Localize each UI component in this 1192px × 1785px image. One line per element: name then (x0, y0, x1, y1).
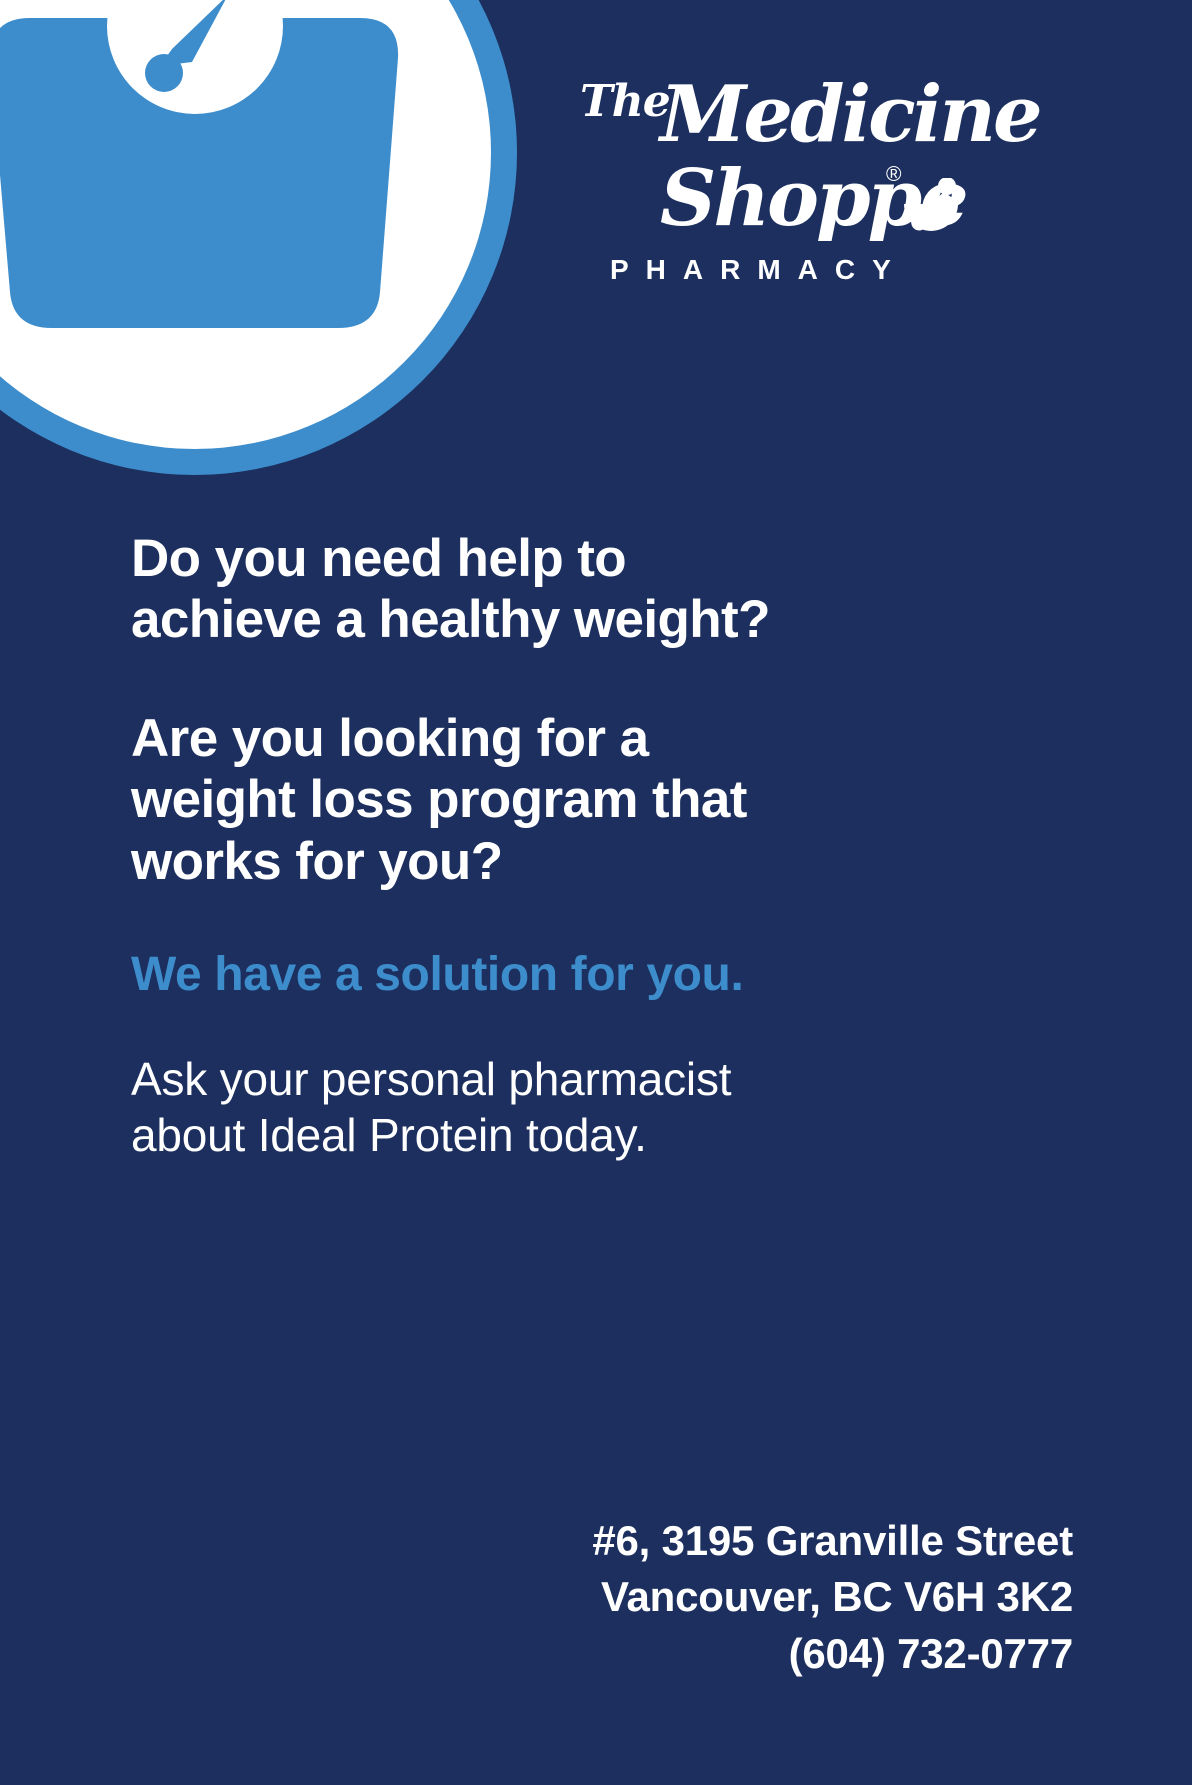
main-content: Do you need help to achieve a healthy we… (131, 528, 1061, 1163)
medicine-shoppe-logo: The Medicine Shoppe ® PHARMACY (568, 74, 968, 244)
headline-secondary: Are you looking for a weight loss progra… (131, 708, 1061, 892)
headline-primary: Do you need help to achieve a healthy we… (131, 528, 1061, 651)
logo-medicine-text: Medicine (660, 74, 1040, 156)
address-phone[interactable]: (604) 732-0777 (592, 1626, 1073, 1682)
solution-statement: We have a solution for you. (131, 947, 1061, 1003)
scale-badge (0, 0, 517, 475)
store-address-block: #6, 3195 Granville Street Vancouver, BC … (592, 1513, 1073, 1682)
logo-line-2: Shoppe ® (568, 158, 968, 244)
address-street: #6, 3195 Granville Street (592, 1513, 1073, 1569)
mortar-and-pestle-icon (900, 178, 962, 236)
poster-canvas: The Medicine Shoppe ® PHARMACY Do you ne… (0, 0, 1192, 1785)
bathroom-scale-icon (0, 0, 517, 475)
logo-pharmacy-text: PHARMACY (610, 254, 908, 286)
logo-the-text: The (580, 80, 670, 124)
address-city: Vancouver, BC V6H 3K2 (592, 1569, 1073, 1625)
call-to-action-text: Ask your personal pharmacist about Ideal… (131, 1051, 1061, 1163)
